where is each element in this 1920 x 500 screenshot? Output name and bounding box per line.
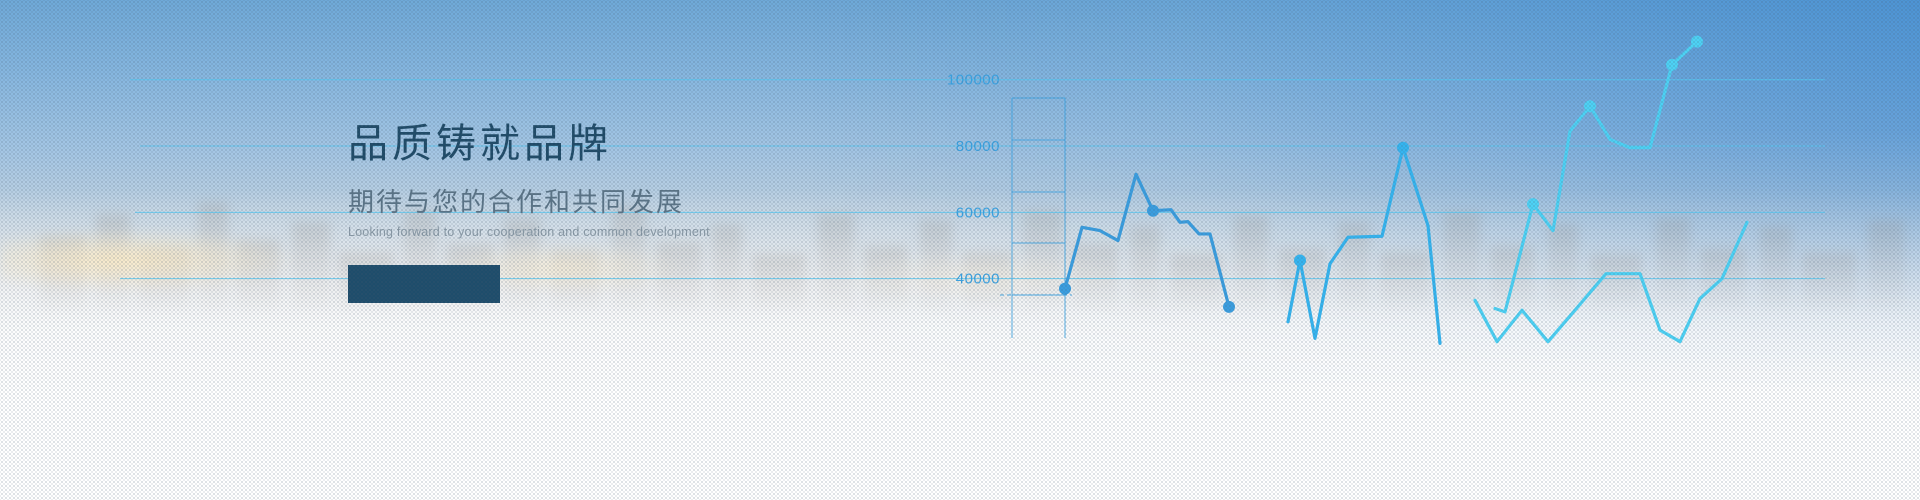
svg-text:100000: 100000 (947, 72, 1000, 89)
chart-series-group (1059, 36, 1747, 344)
page-title: 品质铸就品牌 (348, 122, 868, 166)
hero-copy: 品质铸就品牌 期待与您的合作和共同发展 Looking forward to y… (348, 122, 868, 303)
learn-more-button[interactable] (348, 265, 500, 303)
svg-text:60000: 60000 (956, 204, 1000, 221)
page-subtitle-english: Looking forward to your cooperation and … (348, 225, 868, 239)
page-subtitle: 期待与您的合作和共同发展 (348, 188, 868, 218)
svg-text:80000: 80000 (956, 138, 1000, 155)
chart-axis-box (1000, 98, 1072, 338)
statistics-chart: 400006000080000100000 (760, 0, 1920, 500)
chart-y-tick-labels: 400006000080000100000 (947, 72, 1000, 288)
svg-text:40000: 40000 (956, 271, 1000, 288)
hero-banner: 400006000080000100000 品质铸就品牌 期待与您的合作和共同发… (0, 0, 1920, 500)
